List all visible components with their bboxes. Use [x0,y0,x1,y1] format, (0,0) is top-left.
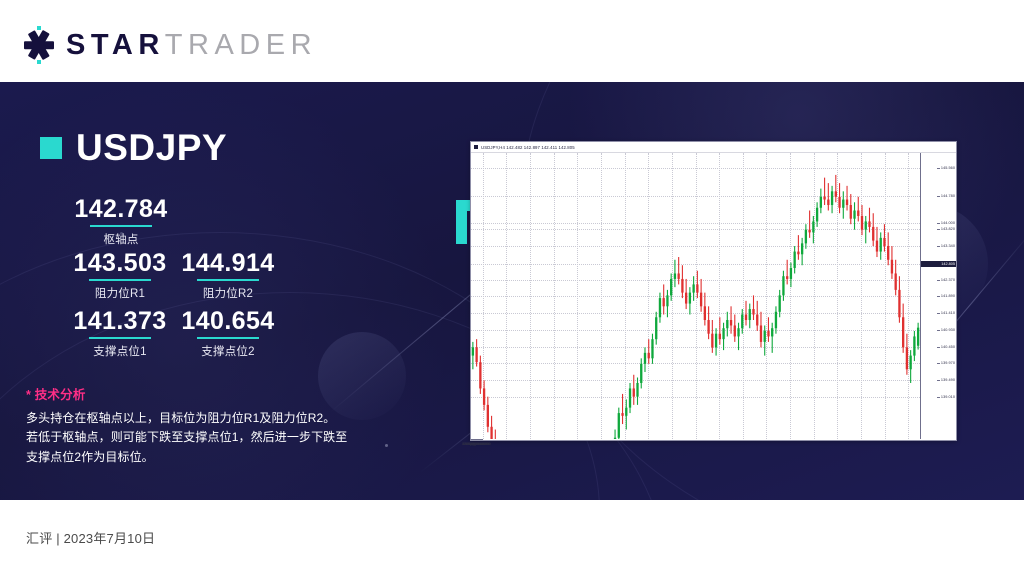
candlestick-series [471,153,920,439]
brand-logo[interactable]: STAR TRADER [22,28,317,62]
analysis-block: * 技术分析 多头持仓在枢轴点以上，目标位为阻力位R1及阻力位R2。 若低于枢轴… [26,384,426,467]
analysis-heading: * 技术分析 [26,384,426,403]
stat-label: 支撑点位2 [158,343,298,359]
analysis-line-2: 若低于枢轴点，则可能下跌至支撑点位1，然后进一步下跌至 [26,428,426,447]
price-tick: 144.780 [941,194,955,198]
stat-resistance-2: 144.914 阻力位R2 [158,250,298,301]
chart-marker-icon [474,145,478,149]
price-tick: 141.890 [941,294,955,298]
date-tick: 6 Jul 12:00 [473,442,491,446]
price-tick: 144.000 [941,221,955,225]
price-tick: 139.010 [941,395,955,399]
stat-underline [197,337,259,339]
info-column: USDJPY 142.784 枢轴点 143.503 阻力位R1 144.914… [40,82,460,500]
star-asterisk-icon [22,28,56,62]
chart-title-text: USDJPY,H4 142.482 142.897 142.411 142.80… [481,145,575,150]
chart-footer: 1 May 20234 May 08:009 May 00:0011 May 1… [471,439,956,440]
price-tick: 141.410 [941,311,955,315]
price-tick: 139.490 [941,378,955,382]
axis-corner [482,439,518,440]
page-title: USDJPY [76,129,227,166]
analysis-line-1: 多头持仓在枢轴点以上，目标位为阻力位R1及阻力位R2。 [26,409,426,428]
price-tick: 142.370 [941,278,955,282]
brand-name-bold: STAR [66,29,165,62]
stat-label: 枢轴点 [56,231,186,247]
date-axis: 1 May 20234 May 08:009 May 00:0011 May 1… [471,439,482,440]
price-tick: 143.340 [941,244,955,248]
chart-window[interactable]: USDJPY,H4 142.482 142.897 142.411 142.80… [470,141,957,441]
price-tick: 140.450 [941,345,955,349]
stat-value: 144.914 [158,250,298,276]
footer-caption: 汇评 | 2023年7月10日 [26,528,155,547]
stat-value: 140.654 [158,308,298,334]
analysis-body: 多头持仓在枢轴点以上，目标位为阻力位R1及阻力位R2。 若低于枢轴点，则可能下跌… [26,409,426,467]
brand-wordmark: STAR TRADER [66,29,317,62]
stat-label: 阻力位R2 [158,285,298,301]
accent-square-icon [40,137,62,159]
analysis-line-3: 支撑点位2作为目标位。 [26,448,426,467]
stat-underline [197,279,259,281]
stat-value: 142.784 [56,196,186,222]
price-tick: 139.970 [941,361,955,365]
stat-underline [90,225,152,227]
chart-title-bar: USDJPY,H4 142.482 142.897 142.411 142.80… [471,142,956,153]
stat-pivot: 142.784 枢轴点 [56,196,186,247]
stat-underline [89,337,151,339]
stat-support-2: 140.654 支撑点位2 [158,308,298,359]
price-tick: 145.560 [941,166,955,170]
chart-body: 145.560144.780144.000143.820143.340142.3… [471,153,956,439]
price-axis: 145.560144.780144.000143.820143.340142.3… [920,153,956,439]
stat-underline [89,279,151,281]
footer-bar: 汇评 | 2023年7月10日 [0,500,1024,576]
price-tick: 140.930 [941,328,955,332]
pair-title-row: USDJPY [40,129,227,166]
candlestick-plot[interactable] [471,153,920,439]
header-bar: STAR TRADER [0,0,1024,82]
current-price-tag: 142.805 [921,261,956,267]
price-tick: 143.820 [941,227,955,231]
brand-name-light: TRADER [165,29,317,62]
